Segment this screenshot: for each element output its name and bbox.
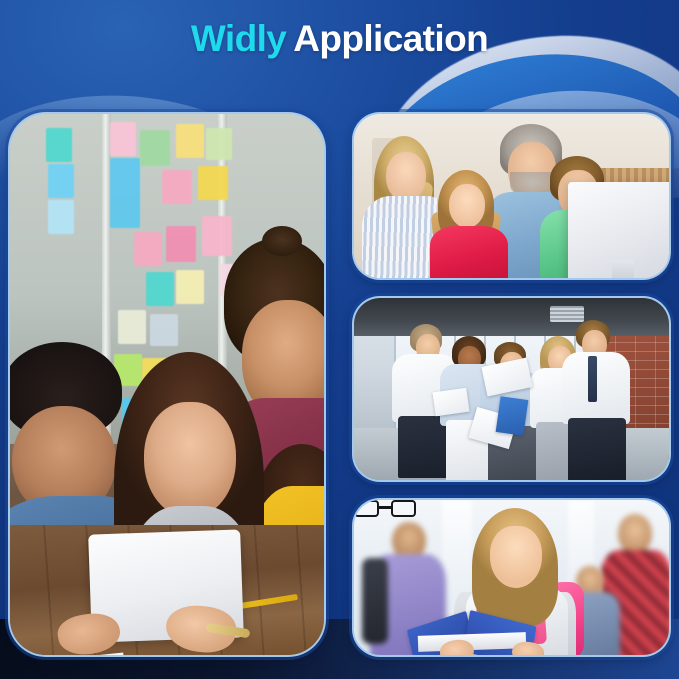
document-sheet: [432, 388, 469, 416]
face: [618, 514, 652, 554]
backpack: [362, 558, 388, 644]
sticky-note: [110, 122, 136, 156]
ceiling-ducts: [354, 298, 669, 336]
poster-canvas: WidlyApplication: [0, 0, 679, 679]
sticky-note: [134, 232, 162, 266]
sticky-note: [202, 216, 232, 256]
sticky-note: [176, 270, 204, 304]
lens-right: [391, 500, 416, 517]
photo-panel-student-book[interactable]: Smiling student girl with glasses and pi…: [352, 498, 671, 657]
person-girl-face: [449, 184, 485, 228]
trousers: [568, 418, 626, 482]
scene-team-tablet: [10, 114, 324, 655]
sticky-note: [176, 124, 204, 158]
sticky-note: [198, 166, 228, 200]
person-student-face: [490, 526, 542, 588]
sticky-note: [48, 164, 74, 198]
page-title-main: Application: [293, 18, 488, 59]
photo-grid: Young creative team of four collaboratin…: [8, 112, 671, 657]
photo-panel-team-tablet[interactable]: Young creative team of four collaboratin…: [8, 112, 326, 657]
necktie: [588, 356, 597, 402]
photo-panel-office-meeting[interactable]: Business team of five discussing printed…: [352, 296, 671, 482]
scene-family-monitor: [354, 114, 669, 278]
scene-office-meeting: [354, 298, 669, 480]
sticky-note: [46, 128, 72, 162]
sticky-note: [48, 200, 74, 234]
photo-panel-family-monitor[interactable]: Smiling family of four at home behind a …: [352, 112, 671, 280]
sticky-note: [146, 272, 174, 306]
sticky-note: [206, 128, 232, 160]
lens-left: [354, 500, 379, 517]
blue-folder: [496, 396, 529, 436]
sticky-note: [118, 310, 146, 344]
person-mother-face: [386, 152, 426, 202]
sticky-note: [162, 170, 192, 204]
sticky-note: [110, 158, 140, 228]
page-title: WidlyApplication: [0, 17, 679, 61]
bridge: [379, 506, 391, 509]
person-woman-center-face: [144, 402, 236, 518]
monitor-stand: [612, 260, 634, 280]
sticky-note: [166, 226, 196, 262]
person-man-hair-bun: [262, 226, 302, 256]
page-title-accent: Widly: [191, 18, 286, 59]
scene-student-book: [354, 500, 669, 655]
sticky-note: [140, 130, 170, 166]
ceiling-vent: [550, 306, 584, 322]
sticky-note: [150, 314, 178, 346]
person-girl-red-dress: [430, 226, 508, 280]
